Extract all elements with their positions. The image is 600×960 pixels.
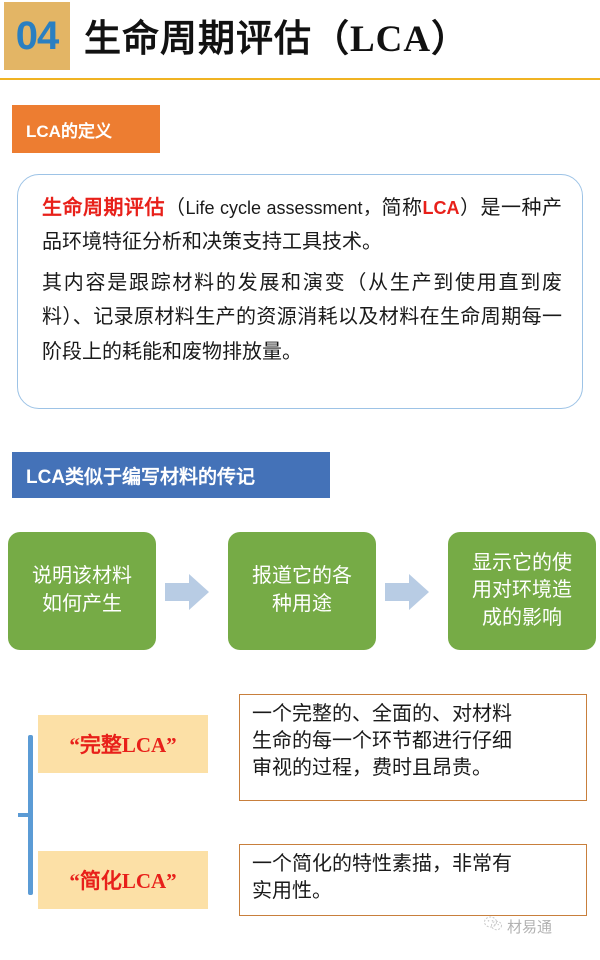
definition-paragraph-2: 其内容是跟踪材料的发展和演变（从生产到使用直到废料）、记录原材料生产的资源消耗以… <box>42 266 562 369</box>
definition-section-badge: LCA的定义 <box>12 105 160 153</box>
watermark: 材易通 <box>484 916 552 937</box>
flow-step-3-line3: 成的影响 <box>482 607 562 629</box>
lca-desc-simple-line1: 一个简化的特性素描，非常有 <box>252 853 512 875</box>
definition-abbr: LCA <box>423 198 460 218</box>
definition-paren-close: ）是 <box>460 197 502 219</box>
lca-desc-full-line1: 一个完整的、全面的、对材料 <box>252 703 512 725</box>
flow-step-3-line2: 用对环境造 <box>472 579 572 601</box>
lca-type-tag-full: “完整LCA” <box>38 715 208 773</box>
section-number: 04 <box>16 14 59 59</box>
definition-highlight-lead: 生命周期评估 <box>42 197 165 219</box>
definition-latin-term: Life cycle assessment， <box>185 198 381 218</box>
watermark-text: 材易通 <box>507 916 552 937</box>
biography-section-badge: LCA类似于编写材料的传记 <box>12 452 330 498</box>
definition-panel: 生命周期评估（Life cycle assessment，简称LCA）是一种产品… <box>17 174 583 409</box>
definition-section-badge-label: LCA的定义 <box>26 117 112 142</box>
flow-step-1: 说明该材料 如何产生 <box>8 532 156 650</box>
page-header: 04 生命周期评估（LCA） <box>0 0 600 80</box>
lca-type-tag-simplified-label: “简化LCA” <box>69 865 176 895</box>
flow-step-2-line2: 种用途 <box>272 593 332 615</box>
lca-types-bracket <box>18 735 36 895</box>
bracket-tick <box>18 813 30 817</box>
lca-type-description-simplified: 一个简化的特性素描，非常有 实用性。 <box>239 844 587 916</box>
lca-desc-full-line3: 审视的过程，费时且昂贵。 <box>252 757 492 779</box>
flow-step-1-line1: 说明该材料 <box>32 565 132 587</box>
page-title: 生命周期评估（LCA） <box>84 8 469 62</box>
wechat-icon <box>484 916 502 937</box>
lca-type-tag-simplified: “简化LCA” <box>38 851 208 909</box>
flow-step-3: 显示它的使 用对环境造 成的影响 <box>448 532 596 650</box>
definition-abbr-prefix: 简称 <box>382 197 423 219</box>
flow-arrow-icon <box>165 574 209 610</box>
flow-step-1-line2: 如何产生 <box>42 593 122 615</box>
biography-section-badge-label: LCA类似于编写材料的传记 <box>26 462 255 489</box>
flow-step-3-text: 显示它的使 用对环境造 成的影响 <box>472 550 572 633</box>
header-divider <box>0 78 600 80</box>
lca-desc-full-line2: 生命的每一个环节都进行仔细 <box>252 730 512 752</box>
lca-type-description-full: 一个完整的、全面的、对材料 生命的每一个环节都进行仔细 审视的过程，费时且昂贵。 <box>239 694 587 801</box>
section-number-badge: 04 <box>4 2 70 70</box>
flow-step-2-line1: 报道它的各 <box>252 565 352 587</box>
flow-diagram: 说明该材料 如何产生 报道它的各 种用途 显示它的使 用对环境造 成的影响 <box>0 532 600 652</box>
flow-step-2: 报道它的各 种用途 <box>228 532 376 650</box>
definition-paren-open: （ <box>165 197 186 219</box>
flow-arrow-icon <box>385 574 429 610</box>
lca-desc-simple-line2: 实用性。 <box>252 880 332 902</box>
lca-type-tag-full-label: “完整LCA” <box>69 729 176 759</box>
flow-step-1-text: 说明该材料 如何产生 <box>32 563 132 618</box>
flow-step-2-text: 报道它的各 种用途 <box>252 563 352 618</box>
flow-step-3-line1: 显示它的使 <box>472 552 572 574</box>
definition-paragraph-1: 生命周期评估（Life cycle assessment，简称LCA）是一种产品… <box>42 191 562 260</box>
